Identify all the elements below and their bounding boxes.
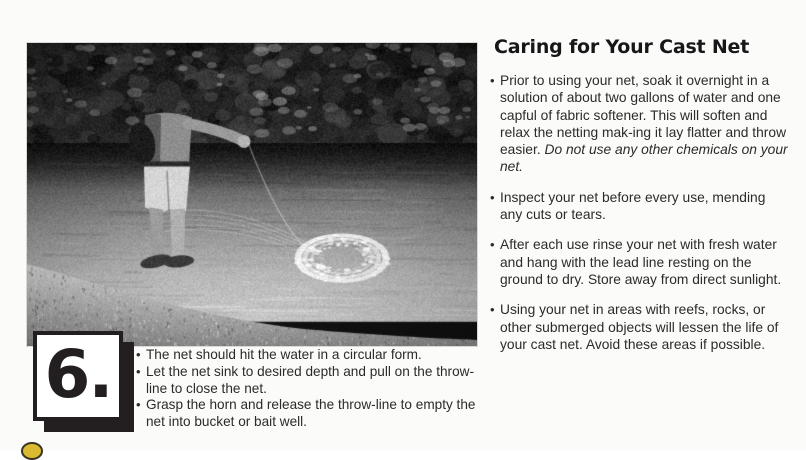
tip-body: Using your net in areas with reefs, rock… (500, 302, 778, 352)
bullet-icon: • (490, 72, 500, 89)
list-item: • After each use rinse your net with fre… (490, 236, 790, 288)
bullet-icon: • (490, 236, 500, 253)
bullet-icon: • (490, 301, 500, 318)
list-item: • Using your net in areas with reefs, ro… (490, 301, 790, 353)
bullet-icon: • (136, 347, 146, 364)
list-item-text: Prior to using your net, soak it overnig… (500, 72, 790, 176)
care-section-title: Caring for Your Cast Net (494, 36, 790, 59)
care-tip-list: • Prior to using your net, soak it overn… (490, 72, 790, 353)
bullet-icon: • (136, 397, 146, 414)
step-number-badge: 6. (33, 331, 123, 421)
photo-image (27, 43, 477, 346)
tip-body: After each use rinse your net with fresh… (500, 237, 781, 287)
cast-net-photo (27, 43, 477, 346)
list-item: • Let the net sink to desired depth and … (136, 364, 481, 398)
step-number-label: 6. (33, 331, 123, 421)
list-item: • Grasp the horn and release the throw-l… (136, 397, 481, 431)
care-section: Caring for Your Cast Net • Prior to usin… (490, 36, 790, 353)
list-item-text: The net should hit the water in a circul… (146, 347, 481, 364)
bullet-icon: • (490, 189, 500, 206)
list-item-text: Grasp the horn and release the throw-lin… (146, 397, 481, 431)
list-item: • Prior to using your net, soak it overn… (490, 72, 790, 176)
step-instruction-list: • The net should hit the water in a circ… (136, 347, 481, 431)
list-item-text: Let the net sink to desired depth and pu… (146, 364, 481, 398)
list-item-text: Inspect your net before every use, mendi… (500, 189, 790, 224)
tip-body: Inspect your net before every use, mendi… (500, 190, 765, 222)
bullet-icon: • (136, 364, 146, 381)
list-item-text: Using your net in areas with reefs, rock… (500, 301, 790, 353)
list-item: • The net should hit the water in a circ… (136, 347, 481, 364)
tip-emphasis: Do not use any other chemicals on your n… (500, 142, 788, 174)
list-item: • Inspect your net before every use, men… (490, 189, 790, 224)
instruction-page: 6. • The net should hit the water in a c… (0, 0, 806, 451)
page-corner-mark-icon (21, 442, 43, 460)
list-item-text: After each use rinse your net with fresh… (500, 236, 790, 288)
